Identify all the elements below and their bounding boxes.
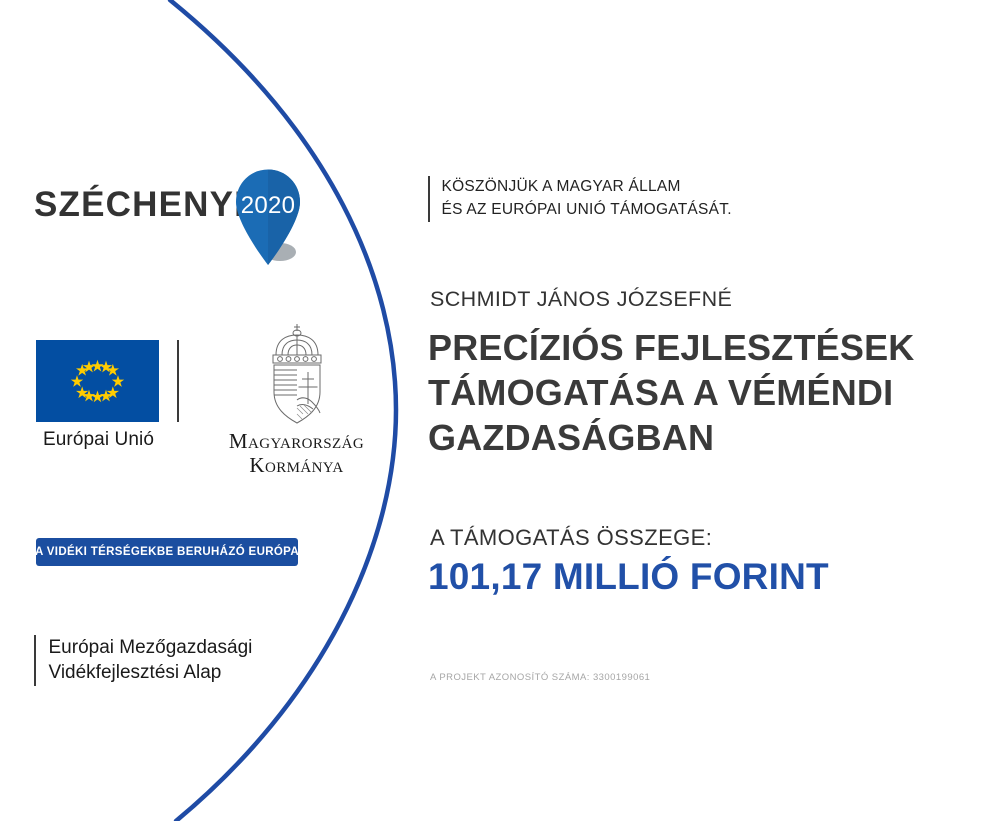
logo-column: SZÉCHENYI 2020	[0, 0, 400, 821]
eu-grant-poster: SZÉCHENYI 2020	[0, 0, 1000, 821]
project-title: PRECÍZIÓS FEJLESZTÉSEK TÁMOGATÁSA A VÉMÉ…	[428, 325, 988, 460]
szechenyi-year-label: 2020	[234, 192, 302, 220]
beneficiary-name: SCHMIDT JÁNOS JÓZSEFNÉ	[430, 287, 732, 312]
rural-europe-banner: A VIDÉKI TÉRSÉGEKBE BERUHÁZÓ EURÓPA	[36, 538, 298, 566]
rural-europe-banner-label: A VIDÉKI TÉRSÉGEKBE BERUHÁZÓ EURÓPA	[35, 546, 299, 558]
fund-rule	[34, 635, 36, 686]
grant-amount-label: A TÁMOGATÁS ÖSSZEGE:	[430, 525, 712, 551]
szechenyi-wordmark: SZÉCHENYI	[34, 187, 245, 222]
grant-amount-value: 101,17 MILLIÓ FORINT	[428, 556, 829, 598]
fund-label: Európai Mezőgazdasági Vidékfejlesztési A…	[49, 635, 253, 686]
hungary-coat-of-arms-icon	[264, 322, 330, 426]
acknowledgement-rule	[428, 176, 430, 222]
eu-flag-icon	[36, 340, 159, 422]
logo-divider	[177, 340, 179, 422]
eu-logo-label: Európai Unió	[36, 429, 161, 451]
acknowledgement-text: KÖSZÖNJÜK A MAGYAR ÁLLAM ÉS AZ EURÓPAI U…	[442, 176, 732, 222]
acknowledgement-block: KÖSZÖNJÜK A MAGYAR ÁLLAM ÉS AZ EURÓPAI U…	[428, 176, 732, 222]
european-union-logo: Európai Unió	[36, 340, 161, 451]
agricultural-fund-block: Európai Mezőgazdasági Vidékfejlesztési A…	[34, 635, 252, 686]
eu-hungary-logo-row: Európai Unió	[36, 322, 366, 472]
szechenyi-2020-logo: SZÉCHENYI 2020	[34, 168, 324, 278]
hungary-government-logo: Magyarország Kormánya	[204, 322, 389, 477]
project-identifier: A PROJEKT AZONOSÍTÓ SZÁMA: 3300199061	[430, 672, 650, 683]
project-info-column: KÖSZÖNJÜK A MAGYAR ÁLLAM ÉS AZ EURÓPAI U…	[428, 0, 988, 821]
hungary-logo-label: Magyarország Kormánya	[204, 430, 389, 477]
